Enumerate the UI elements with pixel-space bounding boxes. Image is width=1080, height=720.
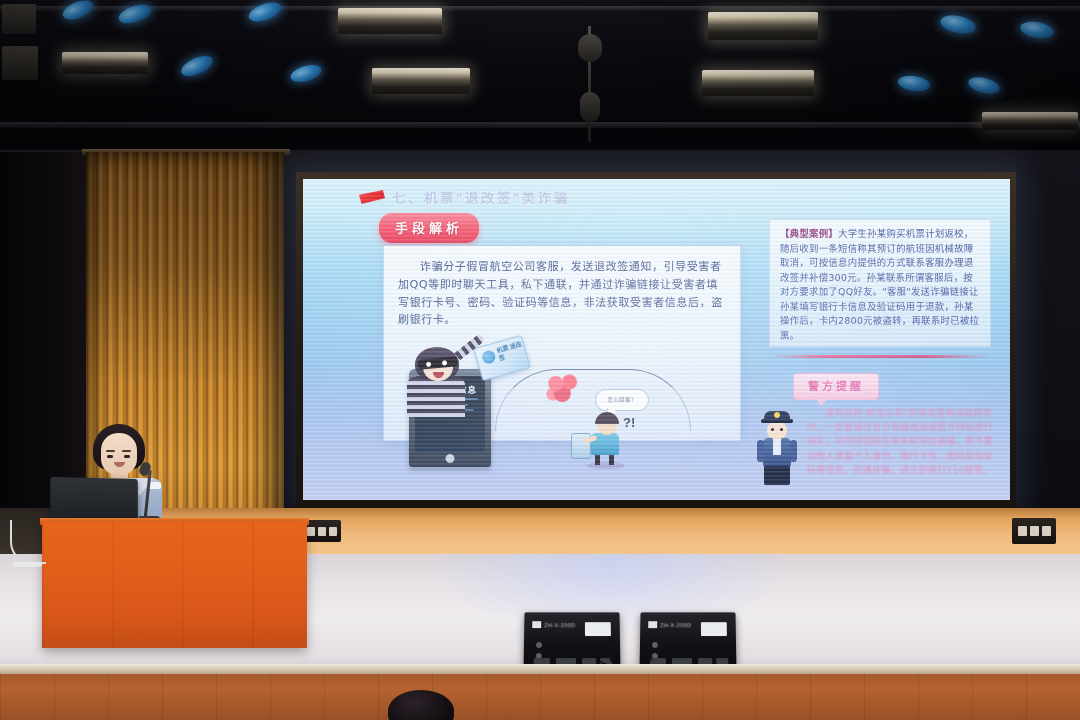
monitor-brand-logo-icon (648, 621, 657, 628)
auditorium-scene: 七、机票"退改签"类诈骗 手段解析 诈骗分子假冒航空公司客服，发送退改签通知，引… (0, 0, 1080, 720)
wall-outlet-panel-right (1012, 518, 1056, 544)
cop-face (767, 422, 787, 439)
ticket-icon (481, 349, 497, 365)
podium-cable (10, 520, 46, 564)
podium-cable (12, 562, 42, 567)
typical-case-body: 大学生孙某购买机票计划返校，随后收到一条短信称其预订的航班因机械故障取消，可按信… (780, 229, 979, 342)
police-tip-card: 接到自称"航空公司"的退改签电话或短信时，一定要通过官方客服电话或官方网站进行核… (807, 407, 995, 489)
fraud-illustration: 盗取个人信息 (399, 347, 729, 467)
cop-pants (764, 465, 790, 485)
victim-question-mark: ?! (623, 415, 635, 430)
victim-shadow (587, 462, 625, 469)
monitor-model-label: ZH-X-200D (544, 623, 575, 629)
projection-screen: 七、机票"退改签"类诈骗 手段解析 诈骗分子假冒航空公司客服，发送退改签通知，引… (303, 179, 1010, 500)
police-reminder-badge: 警方提醒 (793, 373, 879, 400)
ticket-card-text: 机票 退改签 (496, 342, 526, 364)
presentation-slide: 七、机票"退改签"类诈骗 手段解析 诈骗分子假冒航空公司客服，发送退改签通知，引… (303, 179, 1010, 500)
thief-body-graphic (407, 377, 465, 417)
pink-divider (769, 355, 991, 358)
monitor-brand-logo-icon (532, 621, 541, 628)
victim-hair (595, 412, 619, 424)
monitor-spec-sticker (701, 622, 727, 636)
projection-screen-frame: 七、机票"退改签"类诈骗 手段解析 诈骗分子假冒航空公司客服，发送退改签通知，引… (296, 172, 1016, 508)
monitor-spec-sticker (585, 622, 611, 636)
victim-character-graphic: ?! (569, 413, 639, 467)
ceiling-lighting-rig (0, 0, 1080, 152)
typical-case-card: 【典型案例】大学生孙某购买机票计划返校，随后收到一条短信称其预订的航班因机械故障… (769, 219, 991, 347)
typical-case-lead: 【典型案例】 (780, 229, 838, 240)
slide-title: 七、机票"退改签"类诈骗 (392, 187, 570, 207)
police-officer-cartoon (755, 411, 799, 487)
slide-title-row: 七、机票"退改签"类诈骗 (359, 187, 570, 207)
typical-case-text: 【典型案例】大学生孙某购买机票计划返校，随后收到一条短信称其预订的航班因机械故障… (780, 228, 980, 345)
presenter-face (101, 433, 137, 475)
red-flag-icon (359, 190, 385, 204)
phone-home-button (446, 454, 455, 463)
speaker-podium (42, 522, 307, 648)
section-badge-method: 手段解析 (379, 213, 479, 243)
right-wall-panel (1016, 150, 1080, 508)
ceiling-vignette (0, 0, 1080, 152)
cop-hat-badge-icon (774, 412, 780, 418)
police-tip-text: 接到自称"航空公司"的退改签电话或短信时，一定要通过官方客服电话或官方网站进行核… (807, 407, 995, 478)
cop-shirt (773, 439, 781, 455)
monitor-model-label: ZH-X-200D (660, 623, 691, 629)
method-description-text: 诈骗分子假冒航空公司客服，发送退改签通知，引导受害者加QQ等即时聊天工具，私下通… (398, 258, 726, 329)
stage-front-panel (0, 674, 1080, 720)
money-burst-graphic (545, 373, 581, 403)
victim-speech-bubble: 怎么回事？ (595, 389, 649, 411)
